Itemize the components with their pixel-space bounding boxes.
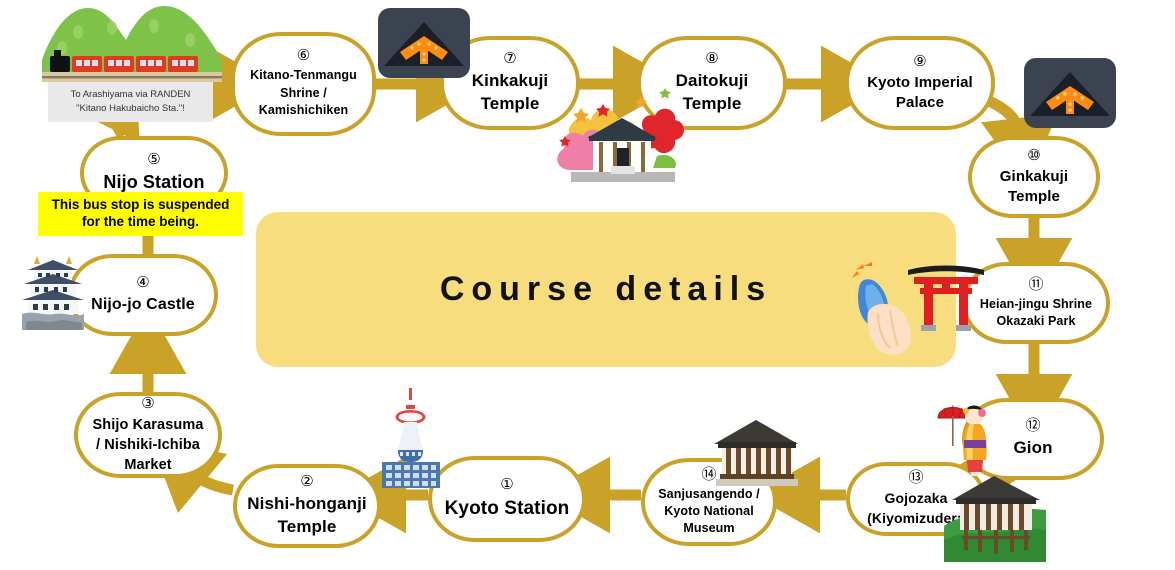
node-7-number: ⑦	[503, 51, 516, 66]
node-6-kitano-tenmangu[interactable]: ⑥ Kitano-TenmanguShrine /Kamishichiken	[231, 32, 376, 136]
bus-stop-suspended-notice: This bus stop is suspended for the time …	[38, 192, 243, 236]
node-3-shijo-karasuma[interactable]: ③ Shijo Karasuma/ Nishiki-IchibaMarket	[74, 392, 222, 478]
node-7-label: KinkakujiTemple	[466, 70, 554, 115]
node-1-kyoto-station[interactable]: ① Kyoto Station	[428, 456, 586, 542]
node-11-label: Heian-jingu ShrineOkazaki Park	[974, 296, 1098, 330]
node-11-number: ⑪	[1028, 277, 1043, 292]
mouse-hand-cursor-illustration	[848, 262, 922, 358]
node-1-number: ①	[500, 477, 513, 492]
node-9-number: ⑨	[913, 54, 926, 69]
notice-line2: for the time being.	[42, 214, 239, 231]
sanjusangendo-hall-illustration	[712, 418, 802, 488]
node-9-kyoto-imperial-palace[interactable]: ⑨ Kyoto ImperialPalace	[845, 36, 995, 130]
course-details-label: Course details	[440, 270, 772, 309]
course-flow-diagram: Course details	[0, 0, 1175, 570]
node-13-number: ⑬	[908, 470, 923, 485]
node-14-label: Sanjusangendo /Kyoto NationalMuseum	[652, 486, 766, 537]
node-10-number: ⑩	[1027, 148, 1040, 163]
node-8-number: ⑧	[705, 51, 718, 66]
autumn-temple-illustration	[545, 78, 690, 188]
node-12-number: ⑫	[1025, 418, 1040, 433]
train-caption-line1: To Arashiyama via RANDEN	[71, 88, 191, 102]
nijo-castle-illustration	[22, 252, 84, 334]
kiyomizudera-hall-illustration	[944, 470, 1046, 562]
pedestrian-signal-right-icon	[1024, 58, 1116, 133]
node-6-label: Kitano-TenmanguShrine /Kamishichiken	[244, 67, 363, 120]
kyoto-tower-illustration	[376, 386, 446, 490]
node-2-label: Nishi-honganjiTemple	[241, 493, 372, 538]
node-6-number: ⑥	[297, 48, 310, 63]
node-5-number: ⑤	[147, 152, 160, 167]
train-caption: To Arashiyama via RANDEN "Kitano Hakubai…	[48, 82, 213, 122]
pedestrian-signal-left-icon	[378, 8, 470, 83]
node-10-ginkakuji[interactable]: ⑩ GinkakujiTemple	[968, 136, 1100, 218]
node-4-number: ④	[136, 275, 149, 290]
node-4-nijo-jo-castle[interactable]: ④ Nijo-jo Castle	[68, 254, 218, 336]
node-12-label: Gion	[1007, 437, 1058, 459]
train-caption-line2: "Kitano Hakubaicho Sta."!	[76, 102, 185, 116]
notice-line1: This bus stop is suspended	[42, 197, 239, 214]
node-10-label: GinkakujiTemple	[994, 167, 1074, 207]
randen-train-hills-illustration	[42, 2, 222, 94]
node-2-nishi-honganji[interactable]: ② Nishi-honganjiTemple	[233, 464, 381, 548]
node-2-number: ②	[300, 474, 313, 489]
node-9-label: Kyoto ImperialPalace	[861, 73, 979, 113]
node-5-label: Nijo Station	[97, 171, 210, 195]
maiko-geisha-illustration	[936, 394, 992, 478]
node-3-label: Shijo Karasuma/ Nishiki-IchibaMarket	[87, 415, 210, 475]
node-4-label: Nijo-jo Castle	[85, 294, 201, 315]
node-1-label: Kyoto Station	[439, 496, 576, 521]
node-3-number: ③	[141, 396, 154, 411]
